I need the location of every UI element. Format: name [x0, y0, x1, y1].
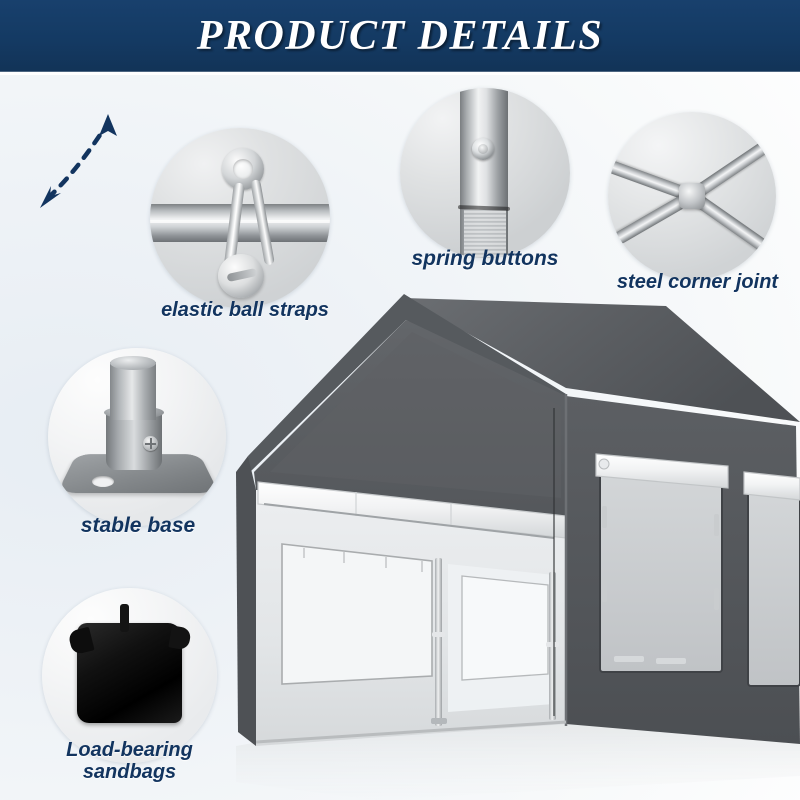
tent-left-corner-post [236, 456, 256, 746]
product-details-page: PRODUCT DETAILS elastic ball straps spri… [0, 0, 800, 800]
callout-label-load-bearing-sandbags: Load-bearing sandbags [22, 740, 237, 783]
right-side-window-2 [744, 472, 800, 686]
callout-load-bearing-sandbags: Load-bearing sandbags [0, 0, 175, 175]
spring-button-shape [472, 138, 494, 160]
carport-canopy-tent-image [236, 276, 800, 800]
load-bearing-sandbags-photo [42, 588, 217, 763]
right-side-window-1 [596, 454, 728, 672]
front-window-panel [282, 544, 432, 684]
pole-joint-collar [432, 632, 445, 637]
sandbag-shape [77, 623, 182, 723]
callout-label-spring-buttons: spring buttons [370, 248, 600, 271]
interior-window-panel [462, 576, 548, 680]
steel-corner-joint-photo [608, 112, 776, 280]
pole-tube-shape [110, 362, 156, 420]
screw-shape [143, 436, 158, 451]
sandbag-handle-shape [120, 604, 129, 632]
joint-hub-shape [679, 183, 705, 209]
support-pole-foot [431, 718, 447, 724]
stable-base-photo [48, 348, 226, 526]
spring-buttons-photo [400, 88, 570, 258]
support-pole [435, 558, 442, 726]
pole-tube-top-shape [110, 356, 156, 370]
pole-joint-collar [546, 642, 559, 647]
callout-label-stable-base: stable base [28, 515, 248, 538]
page-title: PRODUCT DETAILS [197, 12, 603, 60]
anchor-hole-shape [92, 476, 114, 487]
